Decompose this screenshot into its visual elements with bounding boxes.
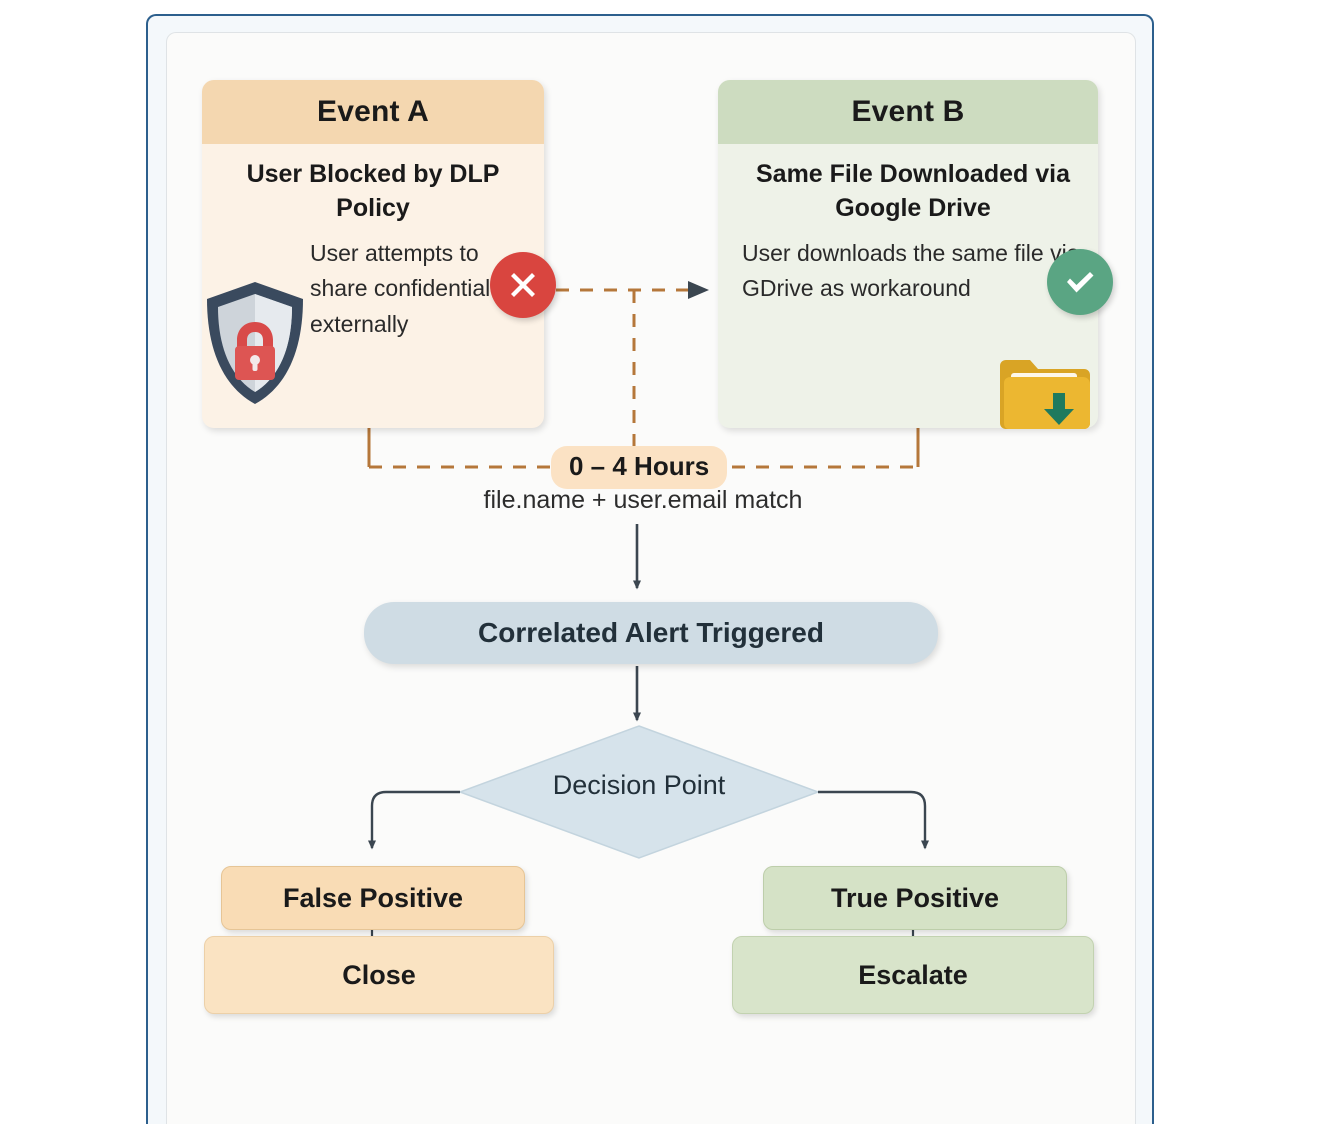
false-positive-node[interactable]: False Positive: [221, 866, 525, 930]
folder-download-icon: [997, 357, 1093, 433]
match-caption: file.name + user.email match: [0, 486, 1338, 515]
x-circle-icon: [490, 252, 556, 318]
true-positive-label: True Positive: [831, 883, 999, 914]
event-b-header: Event B: [718, 80, 1098, 144]
connector-layer: [0, 0, 1338, 1108]
event-b-description: User downloads the same file via GDrive …: [742, 236, 1084, 307]
escalate-action-label: Escalate: [858, 960, 968, 991]
check-circle-icon: [1047, 249, 1113, 315]
true-positive-node[interactable]: True Positive: [763, 866, 1067, 930]
escalate-action-node[interactable]: Escalate: [732, 936, 1094, 1014]
shield-lock-icon: [200, 278, 310, 408]
match-caption-text: file.name + user.email match: [484, 486, 803, 514]
event-a-header: Event A: [202, 80, 544, 144]
decision-point-label: Decision Point: [460, 770, 818, 801]
time-window-badge: 0 – 4 Hours: [551, 446, 727, 489]
close-action-label: Close: [342, 960, 416, 991]
diagram-canvas: Event A User Blocked by DLP Policy User …: [0, 0, 1338, 1108]
check-glyph: [1060, 262, 1100, 302]
correlated-alert-label: Correlated Alert Triggered: [478, 617, 824, 649]
close-action-node[interactable]: Close: [204, 936, 554, 1014]
x-glyph: [503, 265, 543, 305]
event-b-title: Same File Downloaded via Google Drive: [742, 158, 1084, 226]
event-a-title: User Blocked by DLP Policy: [212, 158, 534, 226]
false-positive-label: False Positive: [283, 883, 463, 914]
correlated-alert-node[interactable]: Correlated Alert Triggered: [364, 602, 938, 664]
